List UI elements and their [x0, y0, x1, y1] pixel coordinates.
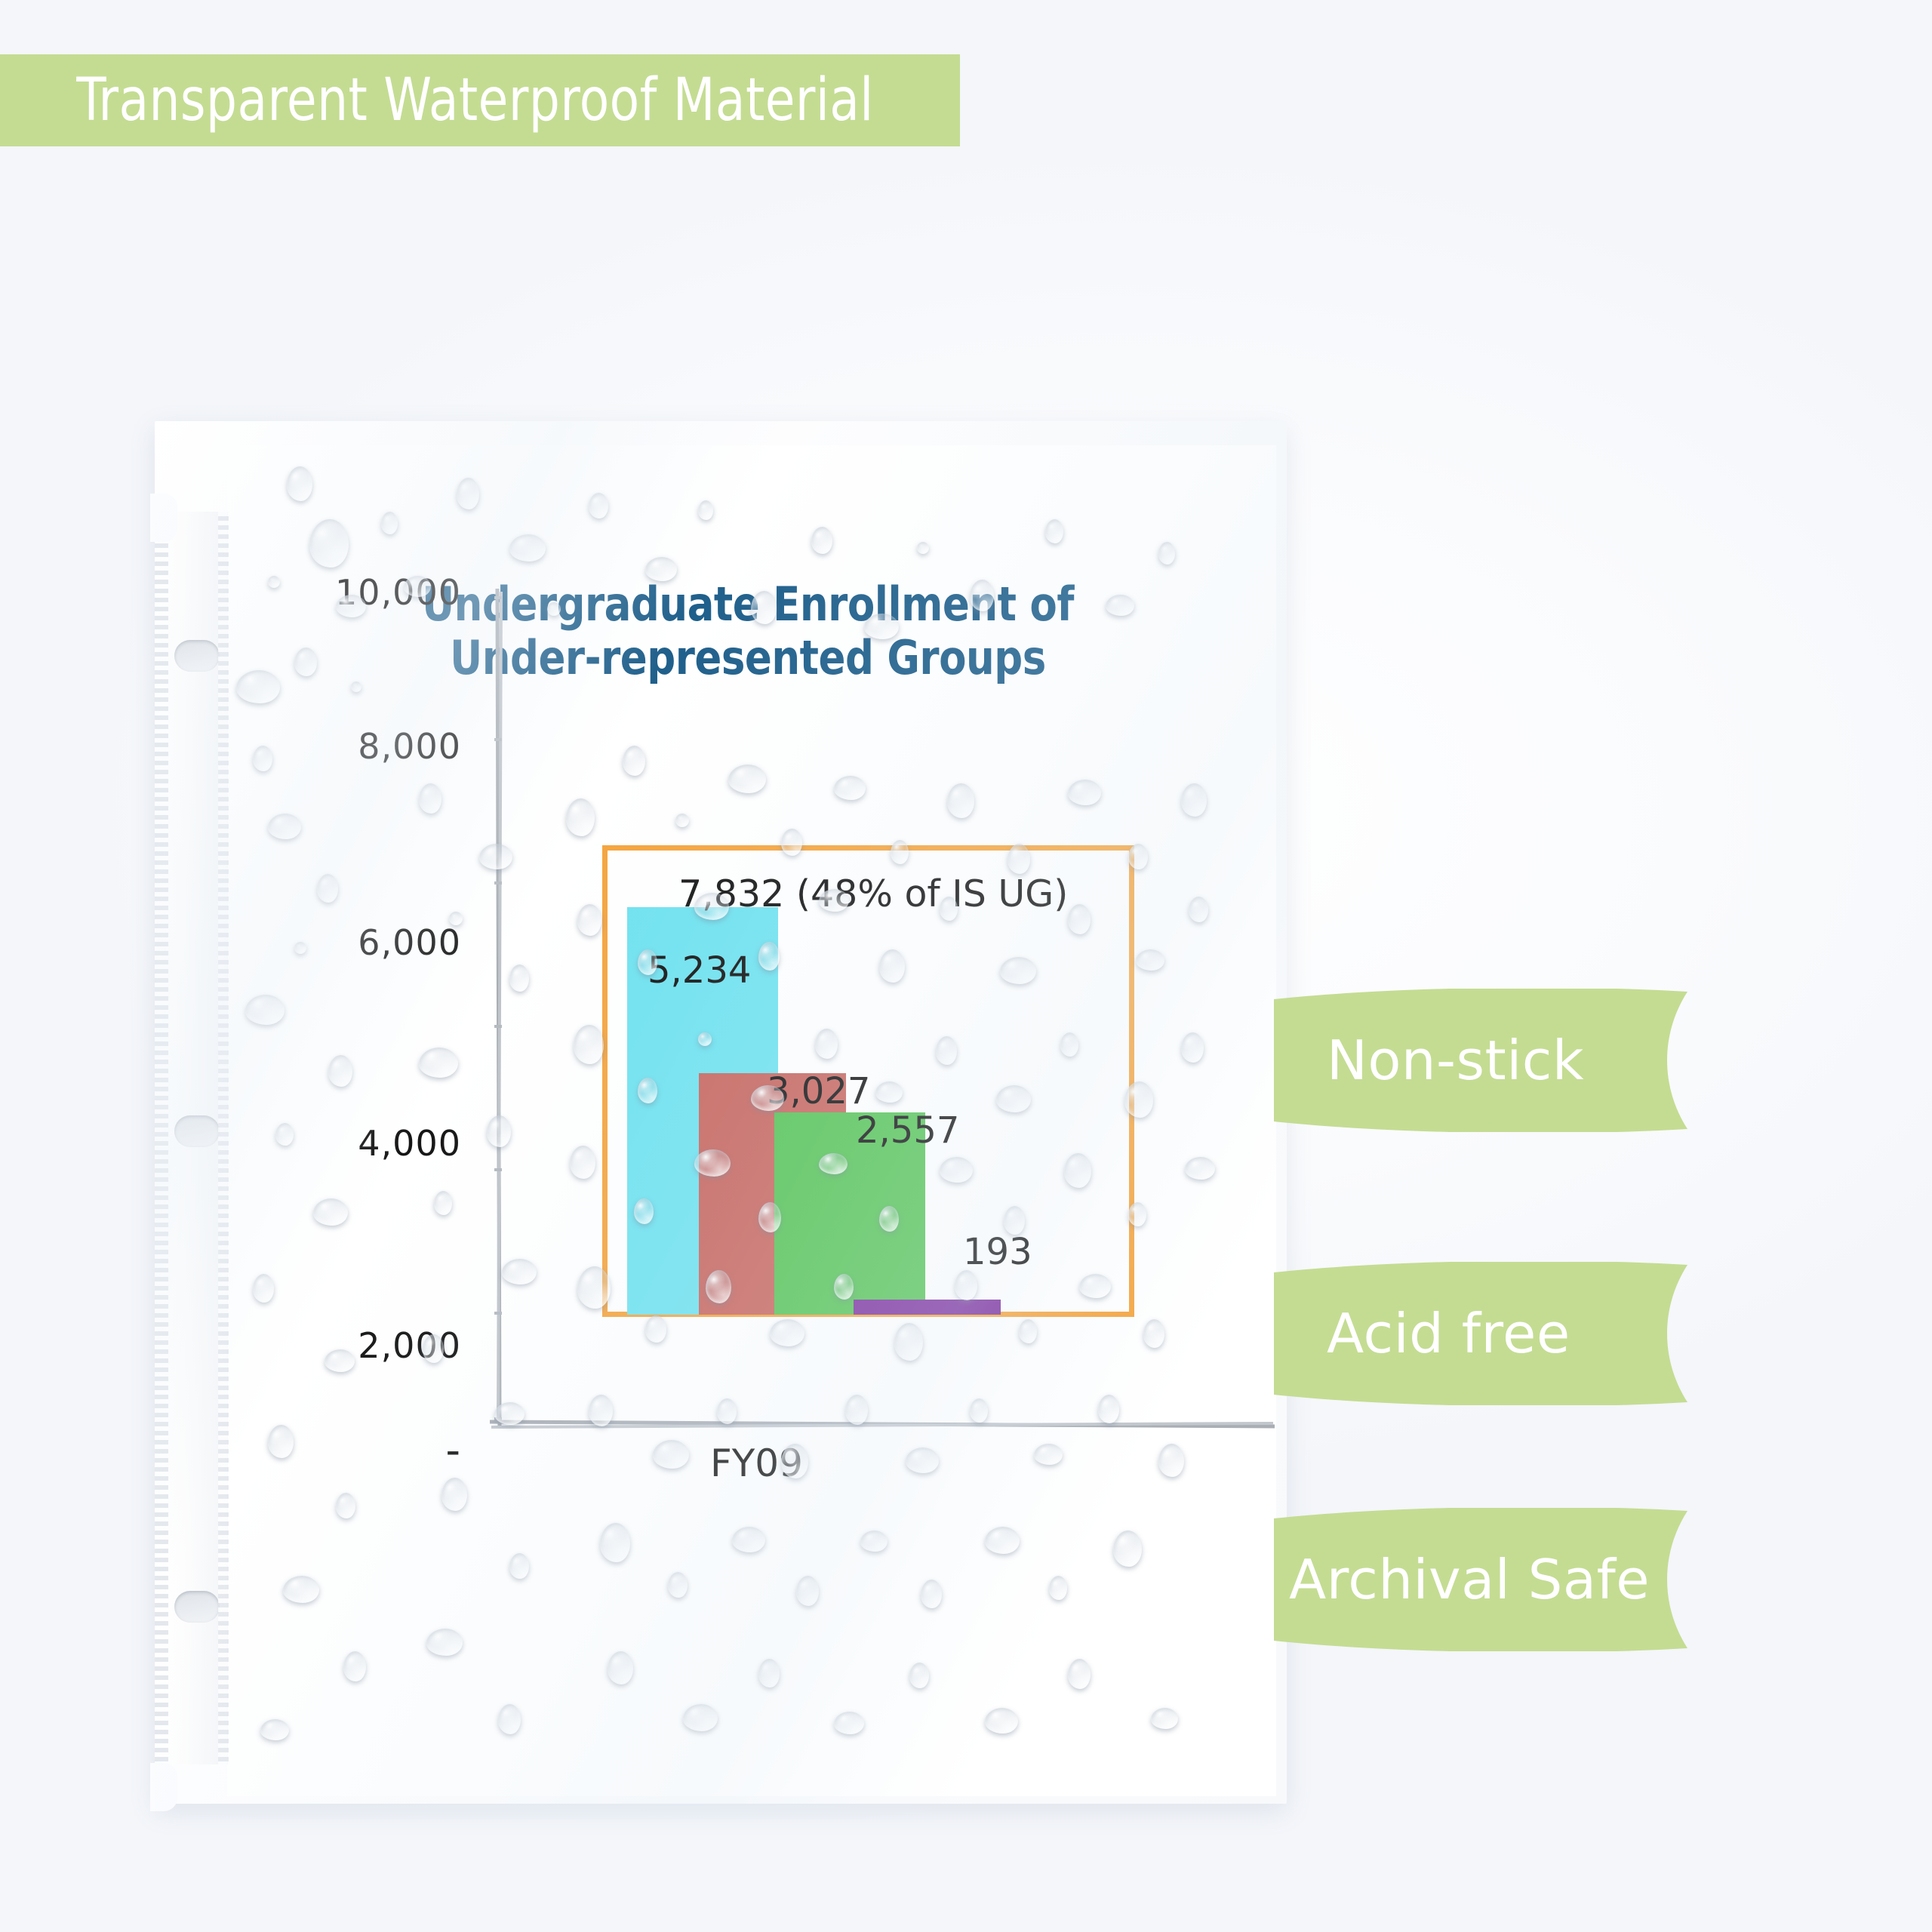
- punch-hole: [174, 1591, 220, 1623]
- film-notch: [150, 494, 177, 542]
- y-tick-zero: -: [280, 1426, 461, 1474]
- feature-ribbon-archival-safe: Archival Safe: [1274, 1508, 1757, 1651]
- x-axis-category-label: FY09: [710, 1441, 803, 1485]
- chart-page: Undergraduate Enrollment of Under-repres…: [227, 445, 1276, 1796]
- feature-ribbon-non-stick: Non-stick: [1274, 989, 1757, 1132]
- feature-ribbon-label: Acid free: [1274, 1302, 1571, 1365]
- bar-series-4: [854, 1300, 1001, 1315]
- bar-label-series-4: 193: [963, 1231, 1032, 1273]
- protector-film: Undergraduate Enrollment of Under-repres…: [155, 421, 1287, 1804]
- y-tick-2000: 2,000: [280, 1325, 461, 1366]
- top-banner-headline: Transparent Waterproof Material: [0, 71, 874, 130]
- feature-ribbon-label: Non-stick: [1274, 1029, 1584, 1092]
- bar-label-series-2: 3,027: [767, 1070, 870, 1112]
- sheet-protector: Undergraduate Enrollment of Under-repres…: [155, 414, 1287, 1811]
- top-banner: Transparent Waterproof Material: [0, 54, 960, 146]
- punch-hole: [174, 1115, 220, 1147]
- x-axis-line: [490, 1411, 1275, 1441]
- binder-strip: [155, 512, 228, 1764]
- film-notch: [150, 1763, 177, 1811]
- punch-hole: [174, 640, 220, 672]
- bar-label-series-1: 5,234: [648, 949, 751, 992]
- bar-label-series-3: 2,557: [856, 1109, 959, 1152]
- feature-ribbon-acid-free: Acid free: [1274, 1262, 1757, 1405]
- total-annotation-label: 7,832 (48% of IS UG): [678, 872, 1068, 915]
- feature-ribbon-label: Archival Safe: [1274, 1548, 1650, 1611]
